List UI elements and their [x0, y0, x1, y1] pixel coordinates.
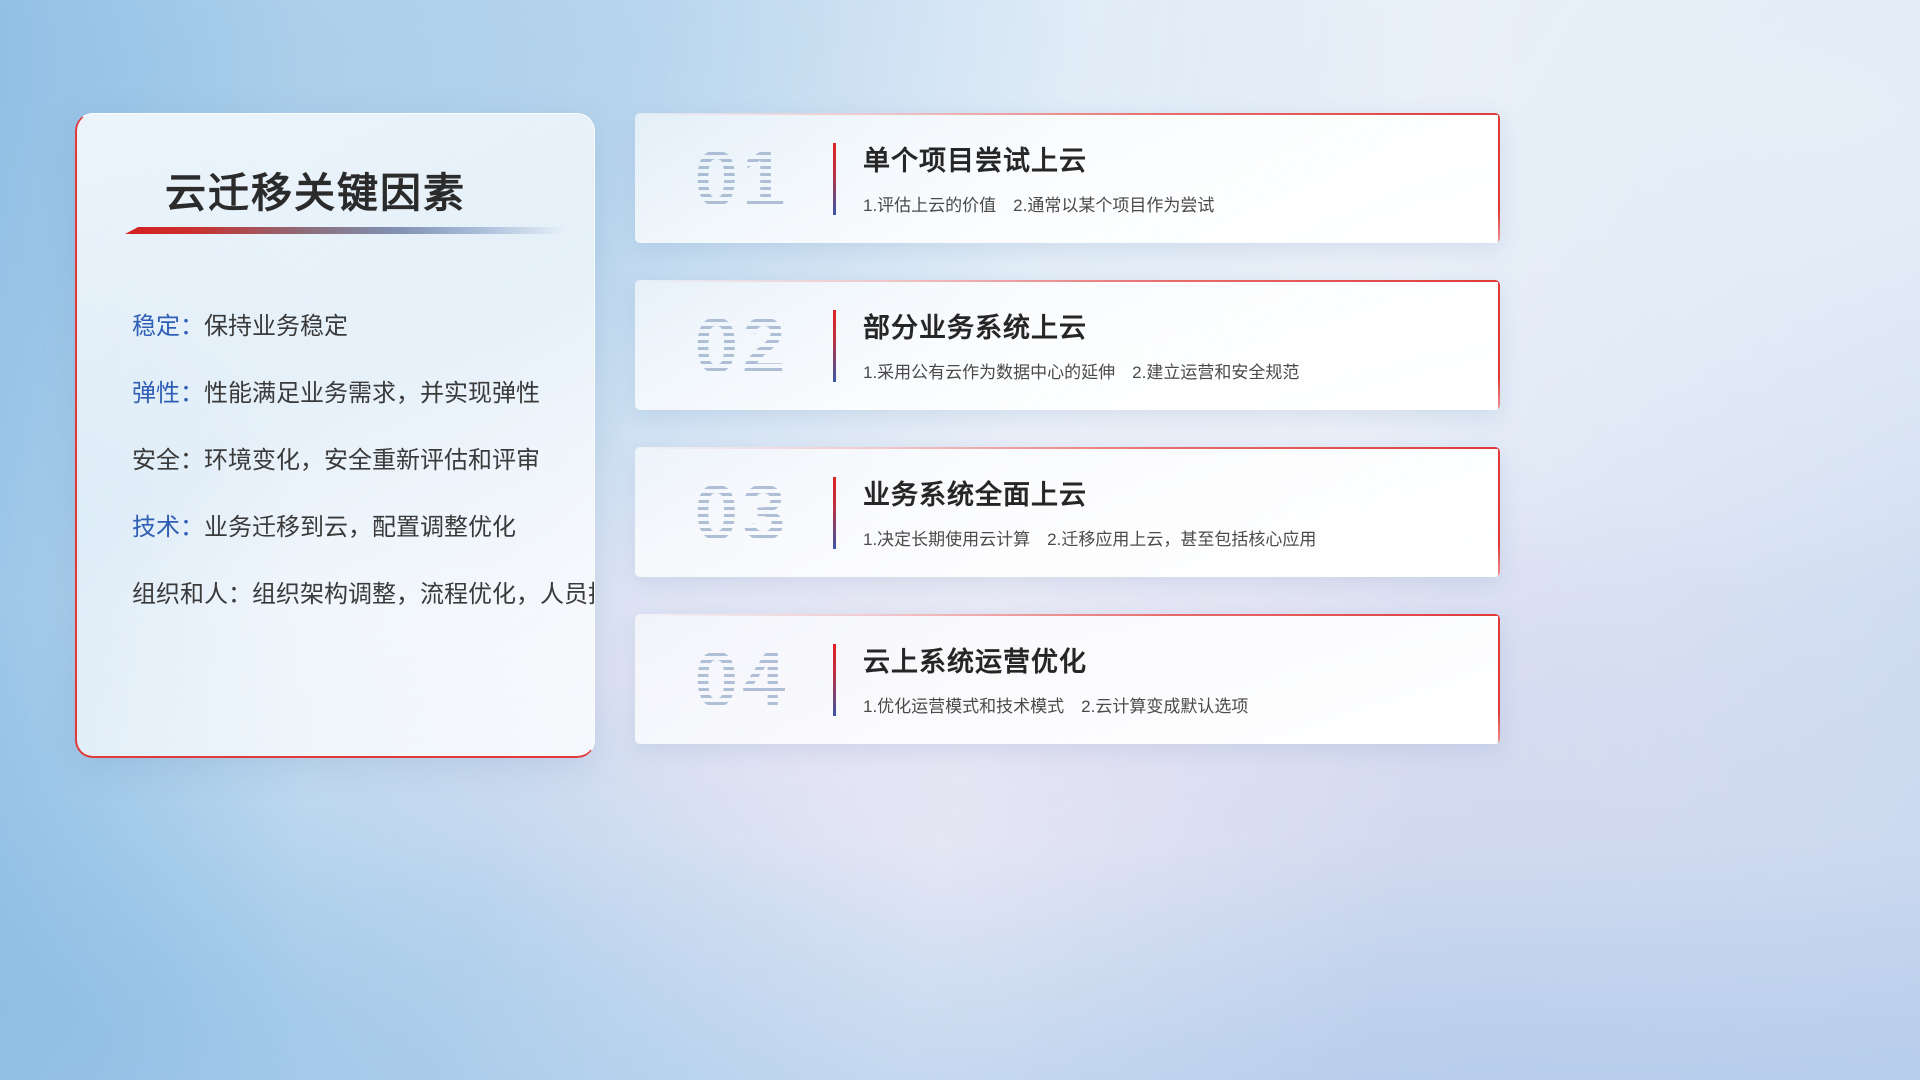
- card-right-accent-line: [1498, 113, 1500, 243]
- card-number: 03: [667, 465, 817, 560]
- card-body: 云上系统运营优化1.优化运营模式和技术模式 2.云计算变成默认选项: [863, 640, 1472, 717]
- card-description: 1.采用公有云作为数据中心的延伸 2.建立运营和安全规范: [863, 358, 1472, 383]
- card-accent-bar: [833, 143, 836, 215]
- card-top-accent-line: [635, 447, 1500, 449]
- stage-card[interactable]: 02部分业务系统上云1.采用公有云作为数据中心的延伸 2.建立运营和安全规范: [635, 280, 1500, 410]
- title-underline-gradient: [125, 227, 565, 234]
- card-right-accent-line: [1498, 280, 1500, 410]
- stage-card-list: 01单个项目尝试上云1.评估上云的价值 2.通常以某个项目作为尝试02部分业务系…: [635, 113, 1500, 781]
- card-description: 1.决定长期使用云计算 2.迁移应用上云，甚至包括核心应用: [863, 525, 1472, 550]
- factor-value: 保持业务稳定: [204, 313, 348, 340]
- card-title: 云上系统运营优化: [863, 640, 1472, 679]
- card-description: 1.评估上云的价值 2.通常以某个项目作为尝试: [863, 191, 1472, 216]
- card-accent-bar: [833, 310, 836, 382]
- card-body: 业务系统全面上云1.决定长期使用云计算 2.迁移应用上云，甚至包括核心应用: [863, 473, 1472, 550]
- card-title: 单个项目尝试上云: [863, 139, 1472, 178]
- card-top-accent-line: [635, 280, 1500, 282]
- card-title: 部分业务系统上云: [863, 306, 1472, 345]
- factor-item: 技术：业务迁移到云，配置调整优化: [132, 513, 574, 543]
- factor-value: 组织架构调整，流程优化，人员技能培训: [252, 581, 595, 608]
- card-top-accent-line: [635, 614, 1500, 616]
- factor-item: 安全：环境变化，安全重新评估和评审: [132, 446, 574, 476]
- card-right-accent-line: [1498, 614, 1500, 744]
- factor-label: 弹性：: [132, 380, 204, 407]
- stage-card[interactable]: 04云上系统运营优化1.优化运营模式和技术模式 2.云计算变成默认选项: [635, 614, 1500, 744]
- factor-item: 组织和人：组织架构调整，流程优化，人员技能培训: [132, 580, 574, 610]
- key-factors-panel: 云迁移关键因素 稳定：保持业务稳定弹性：性能满足业务需求，并实现弹性安全：环境变…: [75, 113, 595, 758]
- card-top-accent-line: [635, 113, 1500, 115]
- background-bottom-wash: [0, 840, 1920, 1080]
- stage-card[interactable]: 03业务系统全面上云1.决定长期使用云计算 2.迁移应用上云，甚至包括核心应用: [635, 447, 1500, 577]
- card-number: 04: [667, 632, 817, 727]
- card-body: 单个项目尝试上云1.评估上云的价值 2.通常以某个项目作为尝试: [863, 139, 1472, 216]
- card-number: 01: [667, 131, 817, 226]
- card-number: 02: [667, 298, 817, 393]
- card-description: 1.优化运营模式和技术模式 2.云计算变成默认选项: [863, 692, 1472, 717]
- factor-item: 稳定：保持业务稳定: [132, 312, 574, 342]
- factor-item: 弹性：性能满足业务需求，并实现弹性: [132, 379, 574, 409]
- factor-label: 组织和人：: [132, 581, 252, 608]
- panel-title: 云迁移关键因素: [165, 159, 466, 219]
- factor-value: 性能满足业务需求，并实现弹性: [204, 380, 540, 407]
- factor-list: 稳定：保持业务稳定弹性：性能满足业务需求，并实现弹性安全：环境变化，安全重新评估…: [132, 312, 574, 647]
- factor-label: 安全：: [132, 447, 204, 474]
- card-right-accent-line: [1498, 447, 1500, 577]
- card-accent-bar: [833, 644, 836, 716]
- card-accent-bar: [833, 477, 836, 549]
- card-body: 部分业务系统上云1.采用公有云作为数据中心的延伸 2.建立运营和安全规范: [863, 306, 1472, 383]
- card-title: 业务系统全面上云: [863, 473, 1472, 512]
- stage-card[interactable]: 01单个项目尝试上云1.评估上云的价值 2.通常以某个项目作为尝试: [635, 113, 1500, 243]
- factor-label: 技术：: [132, 514, 204, 541]
- factor-label: 稳定：: [132, 313, 204, 340]
- factor-value: 业务迁移到云，配置调整优化: [204, 514, 516, 541]
- factor-value: 环境变化，安全重新评估和评审: [204, 447, 540, 474]
